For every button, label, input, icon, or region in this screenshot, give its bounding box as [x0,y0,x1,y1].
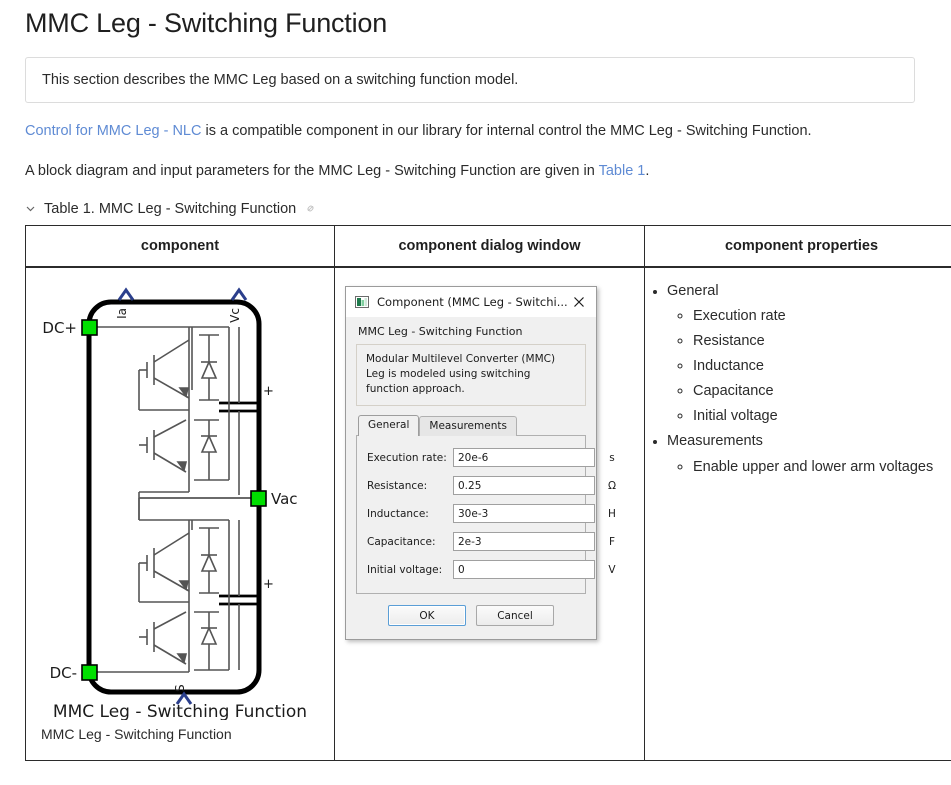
terminal-dc-minus[interactable] [82,665,97,680]
block-title-label: MMC Leg - Switching Function [53,702,307,720]
terminal-label-dc-plus: DC+ [42,319,77,337]
port-vc-arrow-icon [232,290,246,300]
field-row-inductance: Inductance: H [367,504,575,523]
cancel-button[interactable]: Cancel [476,605,554,626]
terminal-dc-plus[interactable] [82,320,97,335]
circuit-svg: Ia Vc S [34,280,326,720]
cell-component-properties: General Execution rate Resistance Induct… [645,267,951,761]
chevron-down-icon[interactable] [25,203,36,214]
property-group-general: General Execution rate Resistance Induct… [667,280,951,430]
properties-list: General Execution rate Resistance Induct… [645,280,951,480]
page-root: MMC Leg - Switching Function This sectio… [0,8,951,761]
mmc-leg-block-diagram: Ia Vc S [34,280,326,720]
property-group-general-label: General [667,283,719,299]
dialog-container: Component (MMC Leg - Switchi... MMC Leg … [335,268,644,649]
dialog-description: Modular Multilevel Converter (MMC) Leg i… [356,344,586,407]
property-item-inductance: Inductance [693,355,951,379]
label-resistance: Resistance: [367,480,453,492]
component-cell-caption: MMC Leg - Switching Function [34,720,326,752]
unit-resistance: Ω [595,480,622,492]
link-table-1[interactable]: Table 1 [599,163,646,179]
lower-capacitor-plus-label: + [263,577,274,592]
property-sublist-measurements: Enable upper and lower arm voltages [667,456,951,480]
upper-capacitor-plus-label: + [263,384,274,399]
component-icon [355,295,369,309]
dialog-titlebar[interactable]: Component (MMC Leg - Switchi... [346,287,596,317]
table-header-dialog: component dialog window [335,225,645,267]
table-row: Ia Vc S [26,267,951,761]
page-title: MMC Leg - Switching Function [25,8,933,39]
tab-general[interactable]: General [358,415,419,436]
terminal-label-vac: Vac [271,490,298,508]
terminal-label-dc-minus: DC- [50,664,77,682]
input-initial-voltage[interactable] [453,560,595,579]
label-capacitance: Capacitance: [367,536,453,548]
paragraph-2-pre: A block diagram and input parameters for… [25,163,599,179]
property-item-resistance: Resistance [693,330,951,354]
vac-bus [139,498,256,520]
input-capacitance[interactable] [453,532,595,551]
label-initial-voltage: Initial voltage: [367,564,453,576]
tab-measurements[interactable]: Measurements [419,416,517,436]
paragraph-2-post: . [645,163,649,179]
terminal-vac[interactable] [251,491,266,506]
dialog-heading: MMC Leg - Switching Function [358,325,586,338]
close-icon[interactable] [568,292,590,312]
label-execution-rate: Execution rate: [367,452,453,464]
table-caption-label: Table 1. MMC Leg - Switching Function [44,201,296,217]
link-control-for-mmc-leg-nlc[interactable]: Control for MMC Leg - NLC [25,123,201,139]
port-label-s: S [173,684,187,692]
port-label-ia: Ia [115,308,129,319]
lower-arm-wiring [139,520,229,602]
field-row-execution-rate: Execution rate: s [367,448,575,467]
paragraph-1-rest: is a compatible component in our library… [201,123,811,139]
port-label-vc: Vc [228,308,242,323]
table-header-row: component component dialog window compon… [26,225,951,267]
table-header-component: component [26,225,335,267]
note-text: This section describes the MMC Leg based… [42,72,518,88]
input-resistance[interactable] [453,476,595,495]
cell-component-diagram: Ia Vc S [26,267,335,761]
diagram-container: Ia Vc S [26,268,334,760]
upper-arm-wiring [92,327,229,410]
dialog-tabstrip: General Measurements [358,416,586,436]
property-group-measurements: Measurements Enable upper and lower arm … [667,430,951,480]
component-dialog-window: Component (MMC Leg - Switchi... MMC Leg … [345,286,597,641]
paragraph-compatible-component: Control for MMC Leg - NLC is a compatibl… [25,121,933,143]
paragraph-block-diagram: A block diagram and input parameters for… [25,161,933,183]
table-header-properties: component properties [645,225,951,267]
property-item-enable-arm-voltages: Enable upper and lower arm voltages [693,456,951,480]
unit-inductance: H [595,508,622,520]
port-ia-arrow-icon [119,290,133,300]
ok-button[interactable]: OK [388,605,466,626]
lower-capacitor-icon [219,596,259,604]
component-table: component component dialog window compon… [25,225,951,761]
field-row-initial-voltage: Initial voltage: V [367,560,575,579]
note-box: This section describes the MMC Leg based… [25,57,915,103]
field-row-capacitance: Capacitance: F [367,532,575,551]
field-row-resistance: Resistance: Ω [367,476,575,495]
unit-capacitance: F [595,536,622,548]
upper-arm-lower-switch [139,400,229,498]
property-sublist-general: Execution rate Resistance Inductance Cap… [667,305,951,429]
input-execution-rate[interactable] [453,448,595,467]
link-anchor-icon[interactable] [304,202,317,215]
label-inductance: Inductance: [367,508,453,520]
property-item-execution-rate: Execution rate [693,305,951,329]
table-caption-row: Table 1. MMC Leg - Switching Function [25,201,933,217]
input-inductance[interactable] [453,504,595,523]
property-item-capacitance: Capacitance [693,380,951,404]
upper-capacitor-icon [219,403,259,411]
unit-execution-rate: s [595,452,622,464]
dialog-tabpanel-general: Execution rate: s Resistance: Ω [356,435,586,594]
lower-arm-lower-switch [92,593,229,672]
property-item-initial-voltage: Initial voltage [693,405,951,429]
dialog-body: MMC Leg - Switching Function Modular Mul… [346,317,596,640]
property-group-measurements-label: Measurements [667,433,763,449]
dialog-button-row: OK Cancel [356,594,586,630]
dialog-title: Component (MMC Leg - Switchi... [377,295,568,309]
cell-component-dialog: Component (MMC Leg - Switchi... MMC Leg … [335,267,645,761]
block-outline [89,302,259,692]
unit-initial-voltage: V [595,564,622,576]
